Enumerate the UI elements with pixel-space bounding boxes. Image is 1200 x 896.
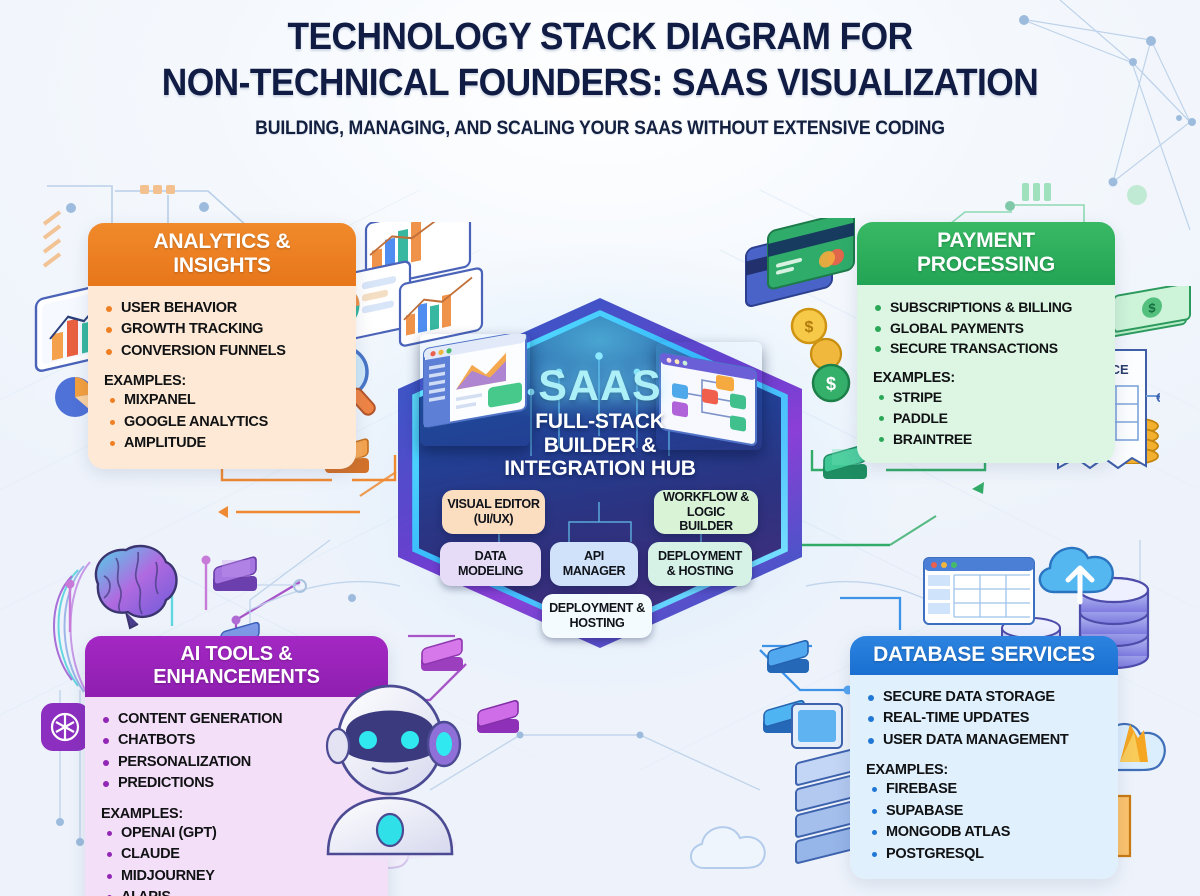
- cloud-icon: [680, 818, 776, 880]
- payment-examples-label: EXAMPLES:: [873, 370, 1101, 386]
- hub-subtitle-line-1: FULL-STACK: [398, 410, 802, 434]
- server-rack-icon: [784, 692, 850, 758]
- analytics-examples-label: EXAMPLES:: [104, 373, 342, 389]
- list-item: GLOBAL PAYMENTS: [873, 318, 1101, 339]
- panel-body-analytics: USER BEHAVIOR GROWTH TRACKING CONVERSION…: [88, 286, 356, 469]
- list-item: MIDJOURNEY: [101, 866, 374, 887]
- database-feature-list: SECURE DATA STORAGE REAL-TIME UPDATES US…: [866, 687, 1104, 751]
- list-item: AI APIS: [101, 887, 374, 896]
- analytics-examples-list: MIXPANEL GOOGLE ANALYTICS AMPLITUDE: [104, 390, 342, 454]
- brain-icon: [78, 536, 188, 632]
- analytics-feature-list: USER BEHAVIOR GROWTH TRACKING CONVERSION…: [104, 298, 342, 362]
- hub-chip-label: DEPLOYMENT & HOSTING: [547, 601, 647, 630]
- banknote-icon: $: [1104, 286, 1194, 348]
- antenna-icon: [56, 540, 246, 650]
- panel-body-ai: CONTENT GENERATION CHATBOTS PERSONALIZAT…: [85, 697, 388, 896]
- svg-text:$: $: [1148, 300, 1156, 316]
- hub-chip-visual-editor[interactable]: VISUAL EDITOR (UI/UX): [442, 490, 545, 534]
- panel-body-payment: SUBSCRIPTIONS & BILLING GLOBAL PAYMENTS …: [857, 285, 1115, 463]
- ai-feature-list: CONTENT GENERATION CHATBOTS PERSONALIZAT…: [101, 709, 374, 795]
- openai-icon: [38, 700, 92, 754]
- panel-analytics-insights[interactable]: ANALYTICS & INSIGHTS USER BEHAVIOR GROWT…: [88, 223, 356, 469]
- hub-chip-label: API MANAGER: [555, 549, 633, 578]
- page-subtitle: BUILDING, MANAGING, AND SCALING YOUR SAA…: [42, 118, 1158, 140]
- list-item: STRIPE: [873, 387, 1101, 408]
- list-item: PERSONALIZATION: [101, 752, 374, 773]
- list-item: CONVERSION FUNNELS: [104, 341, 342, 362]
- payment-feature-list: SUBSCRIPTIONS & BILLING GLOBAL PAYMENTS …: [873, 297, 1101, 359]
- panel-database-services[interactable]: DATABASE SERVICES SECURE DATA STORAGE RE…: [850, 636, 1118, 879]
- list-item: MONGODB ATLAS: [866, 822, 1104, 843]
- list-item: GROWTH TRACKING: [104, 319, 342, 340]
- list-item: MIXPANEL: [104, 390, 342, 411]
- svg-text:$: $: [826, 374, 836, 394]
- database-examples-label: EXAMPLES:: [866, 762, 1104, 778]
- hub-chip-label: DEPLOYMENT & HOSTING: [653, 549, 747, 578]
- list-item: AMPLITUDE: [104, 433, 342, 454]
- hub-chip-label: WORKFLOW & LOGIC BUILDER: [659, 490, 753, 534]
- hub-chip-label: DATA MODELING: [445, 549, 536, 578]
- chip-purple-icon: [208, 556, 262, 600]
- svg-text:$: $: [805, 319, 814, 336]
- hub-chip-deployment-hosting-bottom[interactable]: DEPLOYMENT & HOSTING: [542, 594, 652, 638]
- panel-ai-tools-enhancements[interactable]: AI TOOLS & ENHANCEMENTS CONTENT GENERATI…: [85, 636, 388, 896]
- list-item: SECURE TRANSACTIONS: [873, 338, 1101, 359]
- panel-title-ai: AI TOOLS & ENHANCEMENTS: [85, 636, 388, 697]
- ai-examples-label: EXAMPLES:: [101, 806, 374, 822]
- page-title-line-1: TECHNOLOGY STACK DIAGRAM FOR: [42, 14, 1158, 60]
- list-item: GOOGLE ANALYTICS: [104, 412, 342, 433]
- payment-examples-list: STRIPE PADDLE BRAINTREE: [873, 387, 1101, 449]
- database-examples-list: FIREBASE SUPABASE MONGODB ATLAS POSTGRES…: [866, 779, 1104, 865]
- chip-blue-icon: [758, 700, 810, 742]
- hub-chip-workflow-logic-builder[interactable]: WORKFLOW & LOGIC BUILDER: [654, 490, 758, 534]
- diagram-canvas: TECHNOLOGY STACK DIAGRAM FOR NON-TECHNIC…: [0, 0, 1200, 896]
- hub-subtitle-line-2: BUILDER &: [398, 434, 802, 458]
- panel-title-database: DATABASE SERVICES: [850, 636, 1118, 675]
- panel-title-payment: PAYMENT PROCESSING: [857, 222, 1115, 285]
- chip-purple-icon: [472, 700, 524, 742]
- hub-chip-api-manager[interactable]: API MANAGER: [550, 542, 638, 586]
- list-item: USER BEHAVIOR: [104, 298, 342, 319]
- panel-title-analytics: ANALYTICS & INSIGHTS: [88, 223, 356, 286]
- list-item: FIREBASE: [866, 779, 1104, 800]
- hub-chip-label: VISUAL EDITOR (UI/UX): [447, 497, 540, 526]
- saas-hub[interactable]: SAAS FULL-STACK BUILDER & INTEGRATION HU…: [398, 298, 802, 648]
- list-item: CONTENT GENERATION: [101, 709, 374, 730]
- list-item: SECURE DATA STORAGE: [866, 687, 1104, 708]
- page-title-line-2: NON-TECHNICAL FOUNDERS: SAAS VISUALIZATI…: [42, 60, 1158, 106]
- hub-subtitle: FULL-STACK BUILDER & INTEGRATION HUB: [398, 410, 802, 481]
- list-item: PADDLE: [873, 408, 1101, 429]
- list-item: CLAUDE: [101, 844, 374, 865]
- list-item: BRAINTREE: [873, 429, 1101, 450]
- list-item: POSTGRESQL: [866, 844, 1104, 865]
- hub-chip-deployment-hosting[interactable]: DEPLOYMENT & HOSTING: [648, 542, 752, 586]
- ai-examples-list: OPENAI (GPT) CLAUDE MIDJOURNEY AI APIS: [101, 823, 374, 896]
- list-item: REAL-TIME UPDATES: [866, 708, 1104, 729]
- list-item: OPENAI (GPT): [101, 823, 374, 844]
- panel-body-database: SECURE DATA STORAGE REAL-TIME UPDATES US…: [850, 675, 1118, 879]
- list-item: USER DATA MANAGEMENT: [866, 730, 1104, 751]
- page-header: TECHNOLOGY STACK DIAGRAM FOR NON-TECHNIC…: [0, 14, 1200, 140]
- hub-chip-data-modeling[interactable]: DATA MODELING: [440, 542, 541, 586]
- cloud-upload-icon: [1028, 530, 1132, 616]
- list-item: SUBSCRIPTIONS & BILLING: [873, 297, 1101, 318]
- hub-title: SAAS: [398, 362, 802, 411]
- list-item: CHATBOTS: [101, 730, 374, 751]
- hub-subtitle-line-3: INTEGRATION HUB: [398, 457, 802, 481]
- svg-text:€: €: [1156, 390, 1160, 405]
- coin-icon: $: [806, 358, 856, 408]
- data-table-icon: [920, 554, 1038, 630]
- panel-payment-processing[interactable]: PAYMENT PROCESSING SUBSCRIPTIONS & BILLI…: [857, 222, 1115, 463]
- coin-icon: [804, 332, 848, 376]
- list-item: PREDICTIONS: [101, 773, 374, 794]
- list-item: SUPABASE: [866, 801, 1104, 822]
